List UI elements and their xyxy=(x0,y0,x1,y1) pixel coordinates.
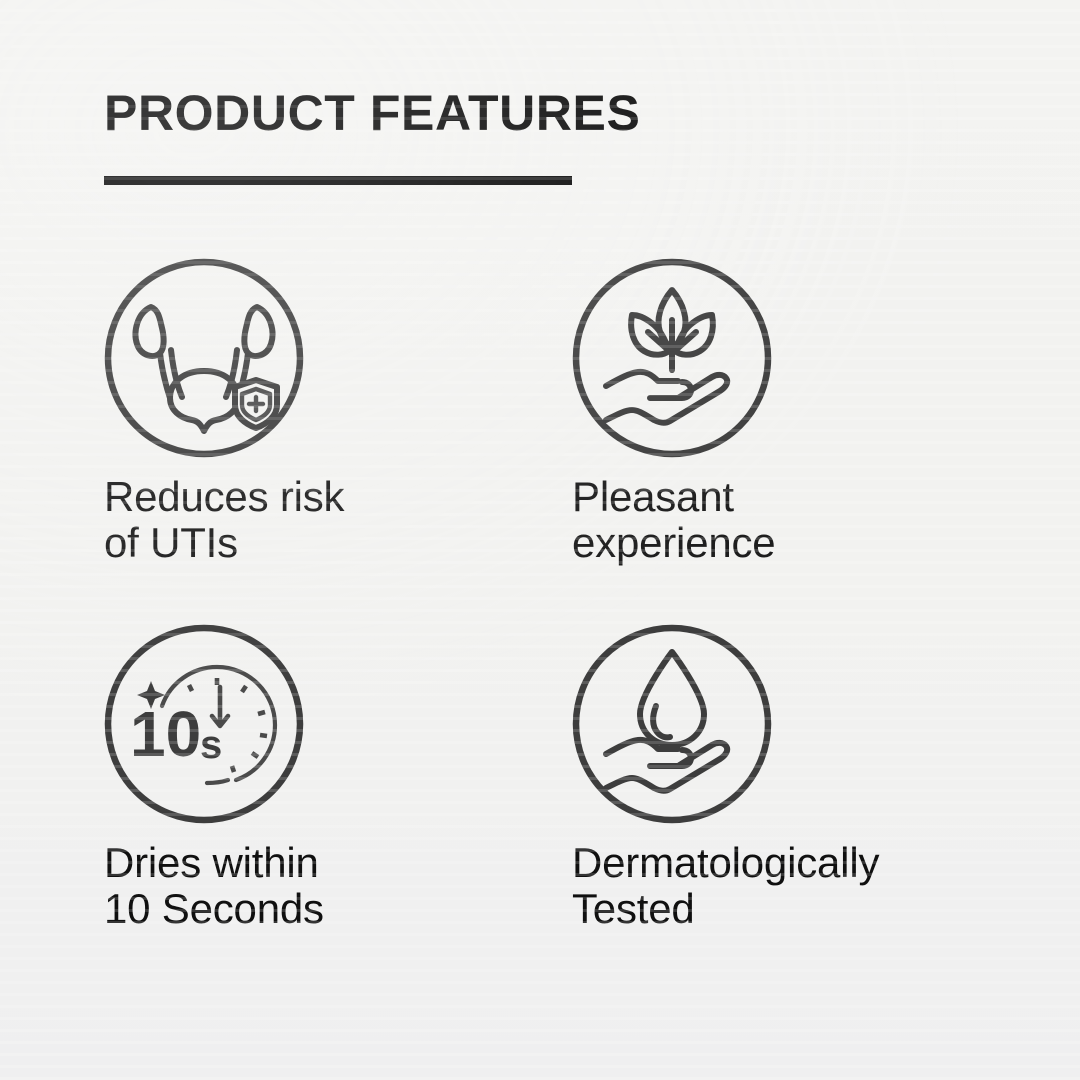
title-underline-rule xyxy=(104,176,572,185)
product-features-graphic: PRODUCT FEATURES xyxy=(0,0,1080,1080)
ten-seconds-clock-icon: 10 s xyxy=(104,624,304,824)
feature-label: Pleasant experience xyxy=(572,458,1040,566)
feature-label: Dermatologically Tested xyxy=(572,824,1040,932)
feature-item-dermatologically-tested: Dermatologically Tested xyxy=(572,624,1040,990)
feature-item-reduces-risk-of-utis: Reduces risk of UTIs xyxy=(104,258,572,624)
header: PRODUCT FEATURES xyxy=(104,86,864,185)
feature-label: Dries within 10 Seconds xyxy=(104,824,572,932)
clock-unit-text: s xyxy=(200,723,222,767)
hand-holding-plant-icon xyxy=(572,258,772,458)
features-grid: Reduces risk of UTIs xyxy=(104,258,1004,990)
feature-item-pleasant-experience: Pleasant experience xyxy=(572,258,1040,624)
clock-number-text: 10 xyxy=(130,698,201,770)
page-title: PRODUCT FEATURES xyxy=(104,86,864,140)
feature-label: Reduces risk of UTIs xyxy=(104,458,572,566)
kidneys-bladder-shield-icon xyxy=(104,258,304,458)
hand-holding-water-drop-icon xyxy=(572,624,772,824)
feature-item-dries-within-10-seconds: 10 s Dries within 10 Seconds xyxy=(104,624,572,990)
